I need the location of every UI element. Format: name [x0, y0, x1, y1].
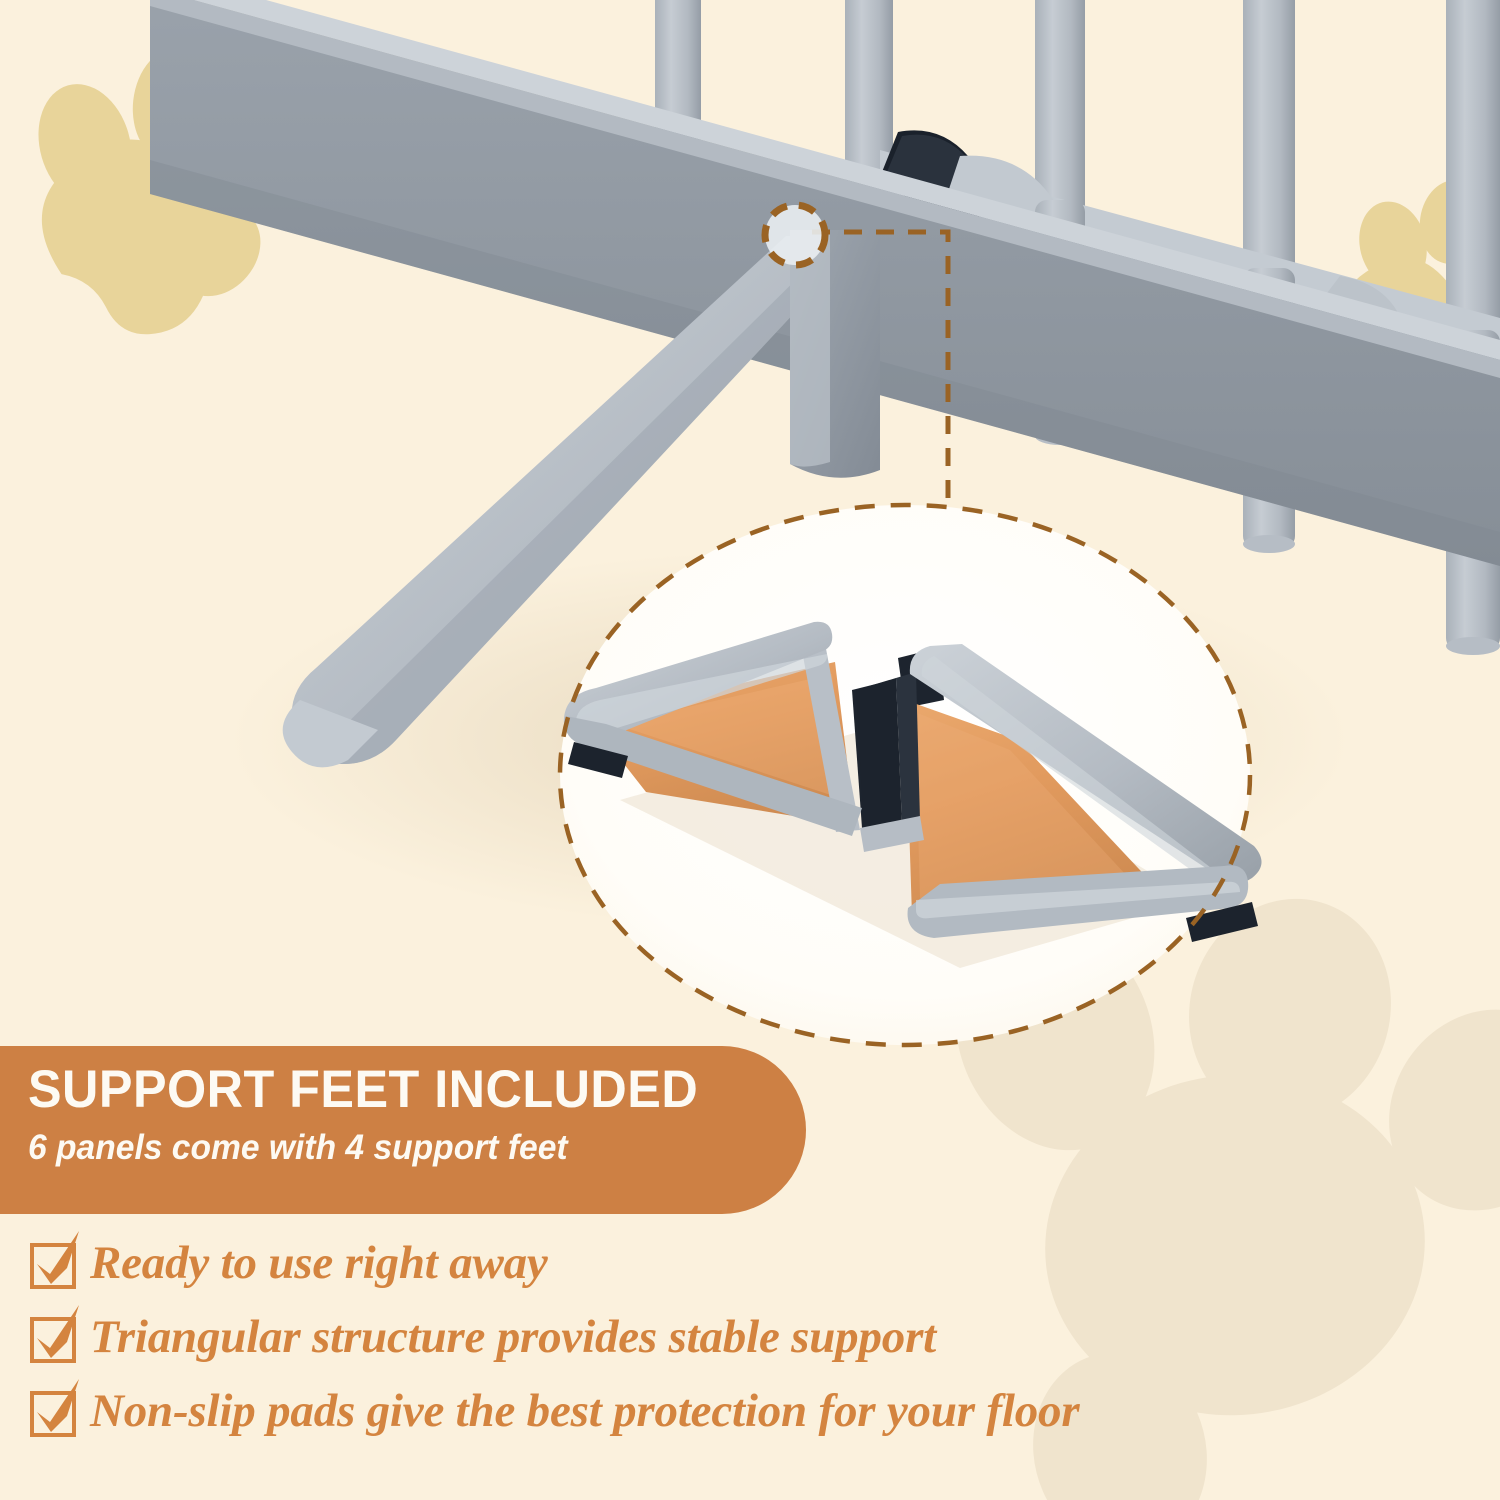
checkbox-checked-icon — [30, 1388, 76, 1434]
dashed-circle-marker — [765, 205, 825, 265]
banner-subtitle: 6 panels come with 4 support feet — [28, 1122, 775, 1174]
checkbox-checked-icon — [30, 1240, 76, 1286]
list-item-label: Ready to use right away — [90, 1238, 548, 1288]
banner-title: SUPPORT FEET INCLUDED — [28, 1060, 767, 1120]
list-item: Ready to use right away — [30, 1228, 1450, 1298]
list-item: Triangular structure provides stable sup… — [30, 1302, 1450, 1372]
feature-bullet-list: Ready to use right away Triangular struc… — [30, 1228, 1450, 1450]
checkbox-checked-icon — [30, 1314, 76, 1360]
list-item-label: Non-slip pads give the best protection f… — [90, 1386, 1079, 1436]
promo-image-canvas: SUPPORT FEET INCLUDED 6 panels come with… — [0, 0, 1500, 1500]
list-item: Non-slip pads give the best protection f… — [30, 1376, 1450, 1446]
list-item-label: Triangular structure provides stable sup… — [90, 1312, 936, 1362]
support-feet-banner: SUPPORT FEET INCLUDED 6 panels come with… — [0, 1046, 806, 1214]
